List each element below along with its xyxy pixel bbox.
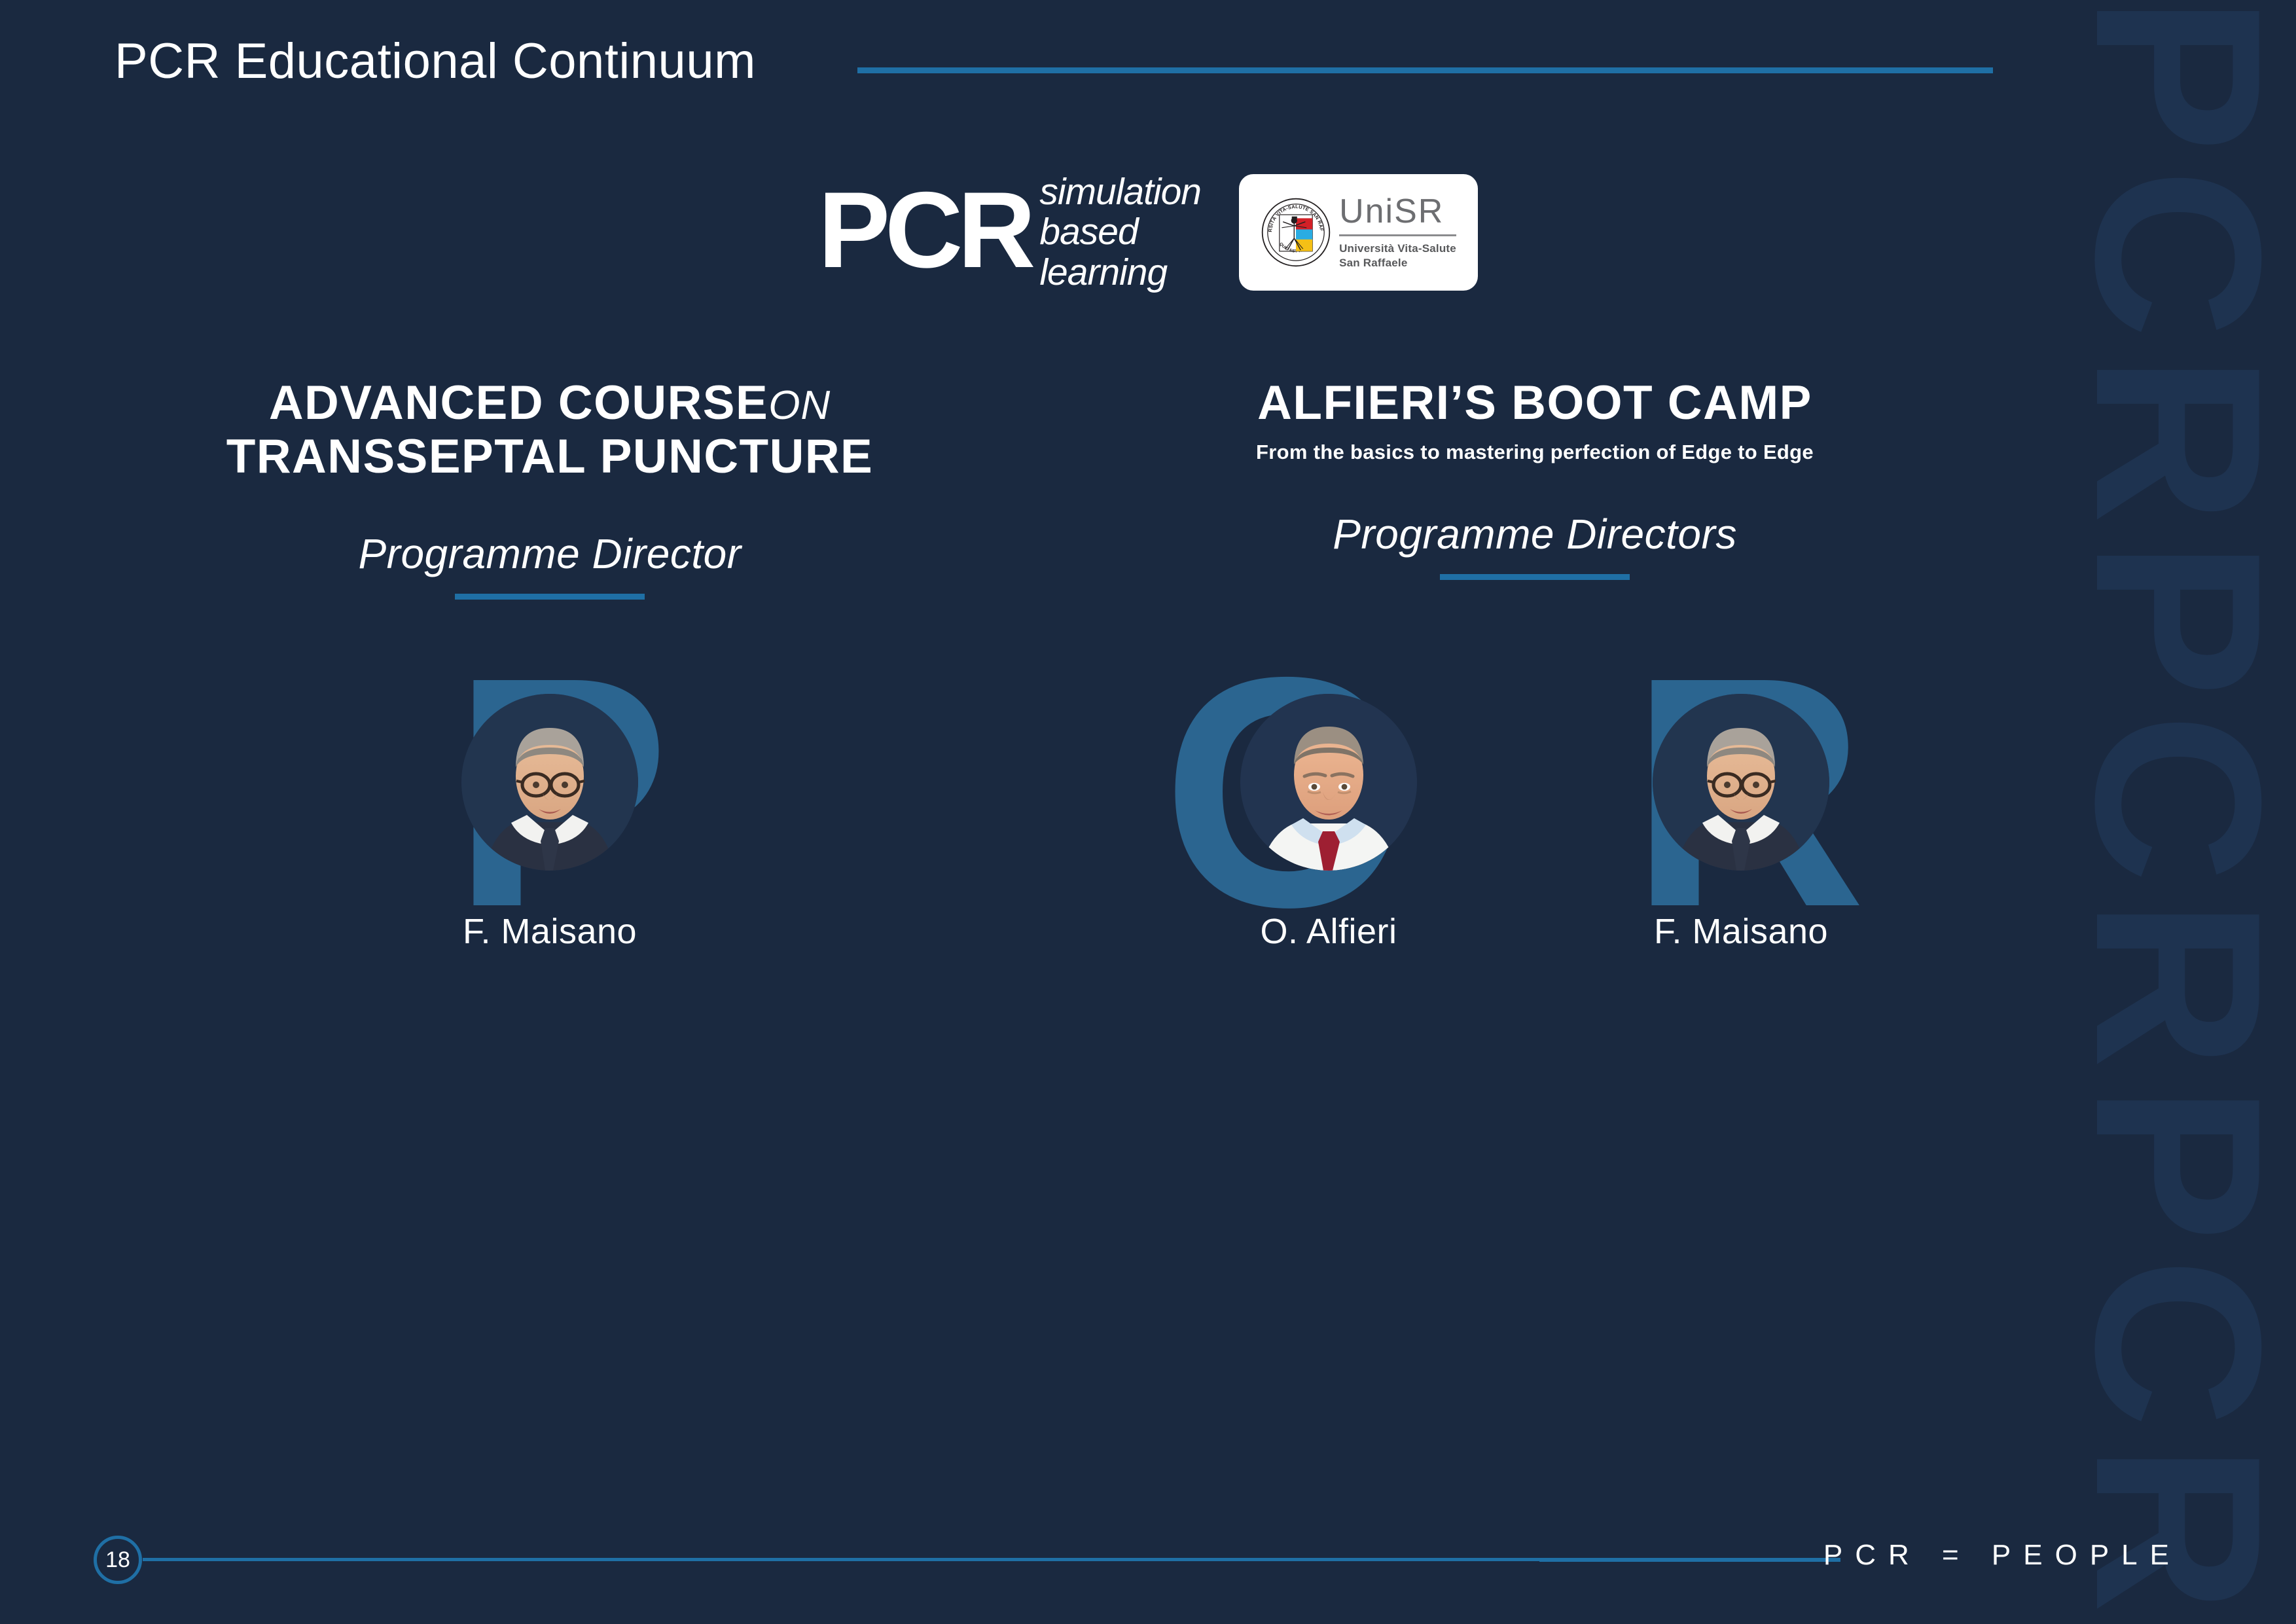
person-name: F. Maisano (442, 911, 658, 952)
people-group-transseptal: F. Maisano (52, 694, 1047, 952)
course-title-bootcamp: ALFIERI’S BOOT CAMP (1060, 376, 2009, 430)
role-accent-rule-left (455, 594, 645, 600)
course-title-main: ADVANCED COURSE (269, 376, 768, 429)
pcr-simulation-logo: PCR simulation based learning (818, 173, 1201, 291)
pcr-tagline: simulation based learning (1039, 172, 1201, 293)
footer-tagline: PCR = PEOPLE (1823, 1539, 2181, 1572)
footer-rule-right (1539, 1558, 1840, 1562)
course-column-transseptal: ADVANCED COURSEON TRANSSEPTAL PUNCTURE P… (52, 376, 1047, 600)
pcr-wordmark: PCR (818, 176, 1030, 284)
unisr-full-name-line2: San Raffaele (1339, 256, 1456, 270)
slide-header: PCR Educational Continuum (0, 0, 2296, 124)
footer-rule-left (143, 1558, 1553, 1561)
course-title-main-bootcamp: ALFIERI’S BOOT CAMP (1257, 376, 1812, 429)
avatar (1653, 694, 1829, 871)
unisr-full-name: Università Vita-Salute San Raffaele (1339, 242, 1456, 270)
role-label-bootcamp: Programme Directors (1060, 510, 2009, 558)
course-title-transseptal: ADVANCED COURSEON TRANSSEPTAL PUNCTURE (52, 376, 1047, 484)
pcr-tagline-line2: based (1039, 212, 1201, 253)
person-card: F. Maisano (1633, 694, 1849, 952)
person-card: O. Alfieri (1221, 694, 1437, 952)
slide: PCRPCRPCR P C R PCR Educational Continuu… (0, 0, 2296, 1624)
slide-footer: 18 PCR = PEOPLE (0, 1500, 2296, 1624)
person-name: O. Alfieri (1221, 911, 1437, 952)
avatar (1240, 694, 1417, 871)
course-column-bootcamp: ALFIERI’S BOOT CAMP From the basics to m… (1060, 376, 2009, 580)
unisr-text-block: UniSR Università Vita-Salute San Raffael… (1339, 194, 1456, 270)
header-accent-rule (857, 67, 1993, 73)
logo-band: PCR simulation based learning UNIVERSITÀ… (0, 164, 2296, 301)
page-title: PCR Educational Continuum (115, 33, 756, 90)
portrait-maisano-1 (461, 694, 638, 871)
portrait-alfieri (1240, 694, 1417, 871)
pcr-tagline-line3: learning (1039, 253, 1201, 293)
people-group-bootcamp: O. Alfieri (1060, 694, 2009, 952)
page-number-badge: 18 (94, 1536, 142, 1584)
course-subtitle-bootcamp: From the basics to mastering perfection … (1060, 441, 2009, 464)
unisr-divider (1339, 234, 1456, 236)
course-title-light: ON (768, 383, 831, 428)
portrait-maisano-2 (1653, 694, 1829, 871)
unisr-seal-icon: UNIVERSITÀ VITA-SALUTE SAN RAFFAELE QUID… (1261, 197, 1331, 268)
course-title-line2: TRANSSEPTAL PUNCTURE (226, 430, 874, 483)
unisr-logo: UNIVERSITÀ VITA-SALUTE SAN RAFFAELE QUID… (1239, 174, 1478, 291)
pcr-tagline-line1: simulation (1039, 172, 1201, 213)
avatar (461, 694, 638, 871)
role-label-transseptal: Programme Director (52, 530, 1047, 578)
person-name: F. Maisano (1633, 911, 1849, 952)
role-accent-rule-right (1440, 574, 1630, 580)
person-card: F. Maisano (442, 694, 658, 952)
unisr-short-name: UniSR (1339, 194, 1456, 228)
unisr-full-name-line1: Università Vita-Salute (1339, 242, 1456, 256)
